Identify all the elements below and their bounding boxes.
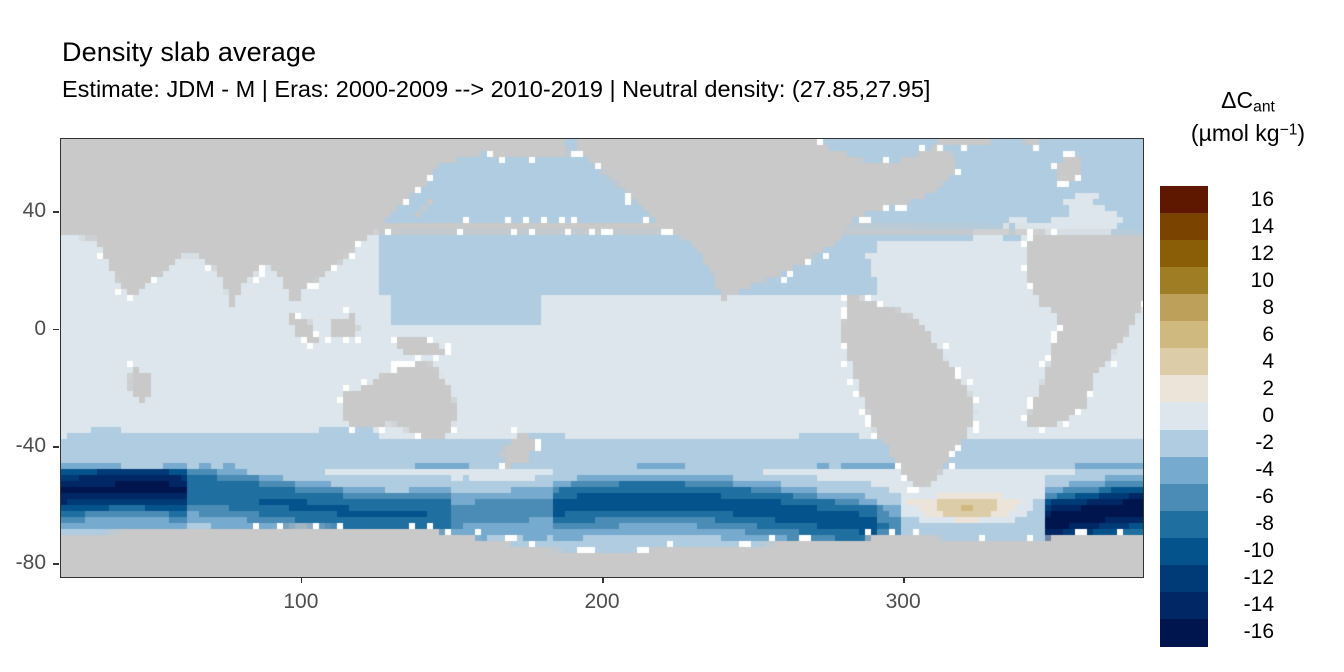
y-tick-label: 40: [23, 199, 46, 223]
x-tick-label: 300: [886, 590, 921, 614]
legend-title: ΔCant (µmol kg−1): [1152, 86, 1344, 149]
y-tick-mark: [53, 563, 59, 565]
y-tick-mark: [53, 329, 59, 331]
colorbar-tick-label: -10: [1208, 539, 1274, 563]
colorbar-tick-labels: 1614121086420-2-4-6-8-10-12-14-16: [1208, 186, 1288, 646]
colorbar-swatch: [1160, 186, 1208, 214]
colorbar-tick-label: -8: [1208, 512, 1274, 536]
legend-title-variable: ΔCant: [1152, 86, 1344, 117]
colorbar-tick-label: 16: [1208, 188, 1274, 212]
y-tick-mark: [53, 446, 59, 448]
colorbar-swatch: [1160, 294, 1208, 322]
colorbar-tick-label: 14: [1208, 215, 1274, 239]
colorbar-tick-label: 10: [1208, 269, 1274, 293]
colorbar-tick-label: 2: [1208, 377, 1274, 401]
colorbar-swatch: [1160, 348, 1208, 376]
colorbar-tick-label: 6: [1208, 323, 1274, 347]
colorbar-swatch: [1160, 511, 1208, 539]
colorbar-swatch: [1160, 321, 1208, 349]
colorbar-tick-label: 8: [1208, 296, 1274, 320]
colorbar-swatch: [1160, 430, 1208, 458]
y-tick-label: -80: [16, 551, 46, 575]
plot-subtitle: Estimate: JDM - M | Eras: 2000-2009 --> …: [62, 77, 1152, 103]
colorbar-swatches: [1160, 186, 1208, 646]
colorbar-tick-label: -16: [1208, 620, 1274, 644]
colorbar-tick-label: 4: [1208, 350, 1274, 374]
colorbar-tick-label: 12: [1208, 242, 1274, 266]
colorbar-tick-label: -6: [1208, 485, 1274, 509]
colorbar-tick-label: 0: [1208, 404, 1274, 428]
page-title: Density slab average: [62, 38, 1152, 68]
colorbar-swatch: [1160, 240, 1208, 268]
colorbar-swatch: [1160, 565, 1208, 593]
colorbar-tick-label: -12: [1208, 566, 1274, 590]
title-block: Density slab average Estimate: JDM - M |…: [62, 38, 1152, 103]
plot-panel-wrap: [60, 138, 1144, 578]
y-tick-mark: [53, 211, 59, 213]
figure-root: Density slab average Estimate: JDM - M |…: [0, 0, 1344, 672]
colorbar-swatch: [1160, 538, 1208, 566]
colorbar-tick-label: -4: [1208, 458, 1274, 482]
colorbar-swatch: [1160, 402, 1208, 430]
colorbar-swatch: [1160, 619, 1208, 647]
y-tick-label: -40: [16, 434, 46, 458]
legend-title-unit: (µmol kg−1): [1152, 119, 1344, 148]
x-tick-mark: [301, 577, 303, 583]
colorbar-swatch: [1160, 267, 1208, 295]
map-panel: [60, 138, 1144, 578]
colorbar-swatch: [1160, 457, 1208, 485]
colorbar-tick-label: -14: [1208, 593, 1274, 617]
map-raster: [61, 139, 1144, 578]
colorbar-swatch: [1160, 375, 1208, 403]
x-tick-label: 100: [283, 590, 318, 614]
y-tick-label: 0: [34, 317, 46, 341]
colorbar-legend: ΔCant (µmol kg−1) 1614121086420-2-4-6-8-…: [1152, 86, 1344, 656]
colorbar-swatch: [1160, 484, 1208, 512]
x-axis: 100200300: [60, 578, 1144, 638]
colorbar-swatch: [1160, 213, 1208, 241]
x-tick-mark: [903, 577, 905, 583]
x-tick-mark: [602, 577, 604, 583]
x-tick-label: 200: [584, 590, 619, 614]
y-axis: 400-40-80: [0, 138, 60, 578]
colorbar-swatch: [1160, 592, 1208, 620]
colorbar-tick-label: -2: [1208, 431, 1274, 455]
